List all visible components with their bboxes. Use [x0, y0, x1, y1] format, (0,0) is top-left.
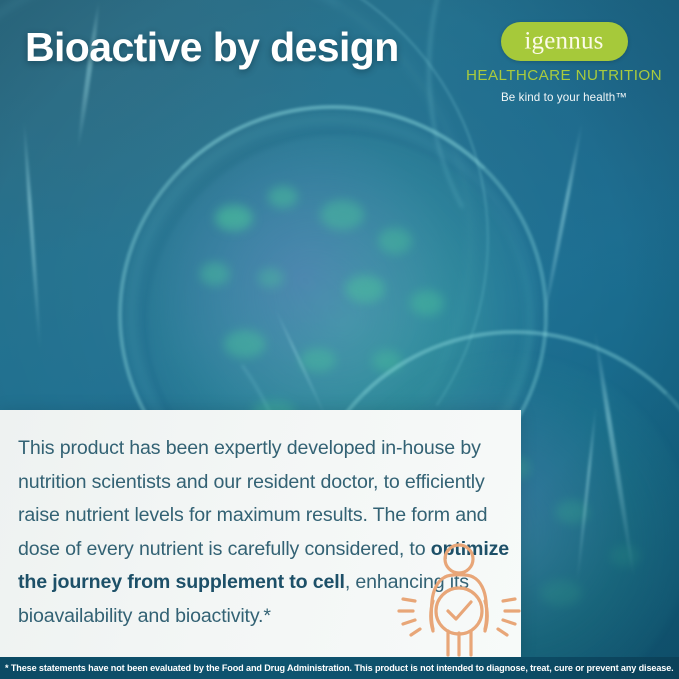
person-wellbeing-check-icon	[393, 539, 525, 659]
brand-tagline: Be kind to your health™	[459, 91, 669, 104]
brand-logo-block[interactable]: igennus HEALTHCARE NUTRITION Be kind to …	[459, 22, 669, 104]
legal-disclaimer-bar: * These statements have not been evaluat…	[0, 657, 679, 679]
promo-image-canvas: Bioactive by design igennus HEALTHCARE N…	[0, 0, 679, 679]
copy-panel: This product has been expertly developed…	[0, 410, 521, 657]
page-title: Bioactive by design	[25, 27, 399, 68]
disclaimer-text: * These statements have not been evaluat…	[0, 663, 674, 673]
brand-name: igennus	[501, 27, 628, 55]
brand-subtitle: HEALTHCARE NUTRITION	[459, 67, 669, 84]
brand-logo-pill[interactable]: igennus	[501, 22, 628, 61]
